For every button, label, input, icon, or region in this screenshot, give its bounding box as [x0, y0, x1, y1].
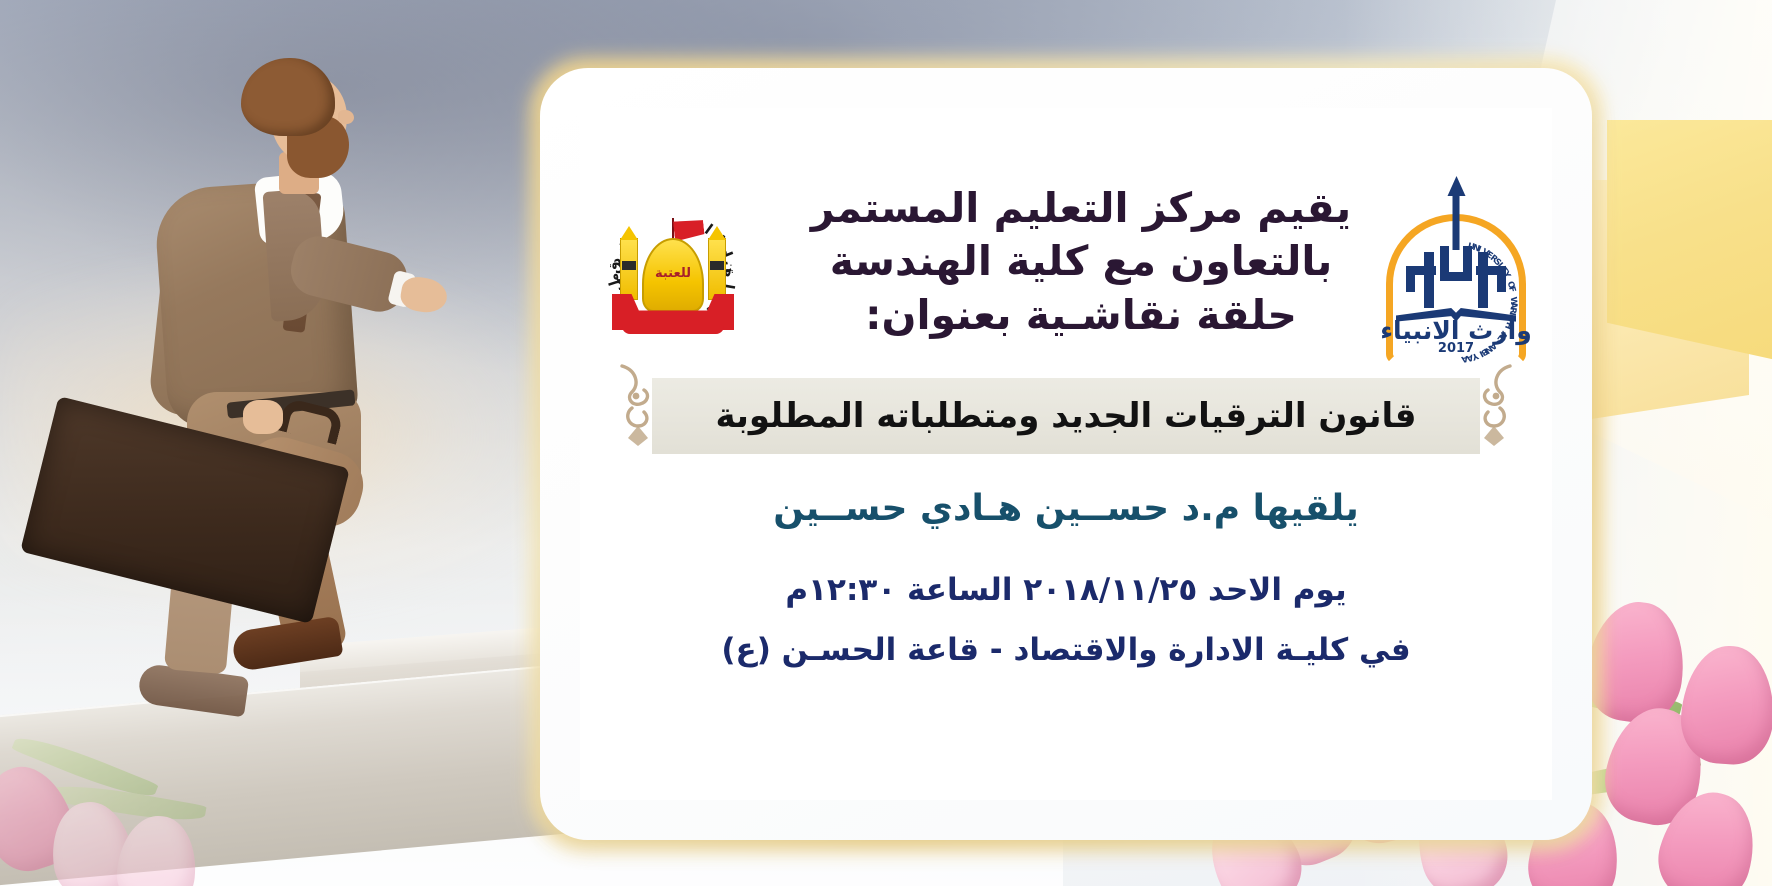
- university-of-warith-al-anbiyaa-logo: وارث الانبياء 2017 UNIVERSITY OF WARITH …: [1372, 190, 1540, 366]
- atabah-dome-label: للعتبة: [644, 266, 702, 281]
- page-title: يقيم مركز التعليم المستمر بالتعاون مع كل…: [790, 182, 1372, 342]
- hair: [241, 58, 335, 136]
- minaret-left-icon: [620, 238, 638, 300]
- tulip-flower: [1678, 643, 1772, 767]
- nose: [338, 110, 354, 124]
- businessman-illustration: [95, 48, 425, 748]
- hand-holding-briefcase: [243, 400, 283, 434]
- heading-line-2: بالتعاون مع كلية الهندسة: [790, 235, 1372, 288]
- speaker-line: يلقيها م.د حســين هـادي حســين: [580, 488, 1552, 529]
- tulip-bouquet-left: [0, 696, 240, 886]
- minaret-right-icon: [708, 238, 726, 300]
- heading-line-3: حلقة نقاشـية بعنوان:: [790, 289, 1372, 342]
- poster-content: الامانة العامةالمقدسة للعتبة يقيم مركز ا…: [580, 108, 1552, 800]
- shoe-front: [231, 616, 344, 672]
- atabah-husayniyya-logo: الامانة العامةالمقدسة للعتبة: [598, 194, 748, 354]
- title-banner: قانون الترقيات الجديد ومتطلباته المطلوبة: [652, 378, 1480, 454]
- event-datetime: يوم الاحد ٢٠١٨/١١/٢٥ الساعة ١٢:٣٠م: [580, 572, 1552, 608]
- title-banner-wrapper: قانون الترقيات الجديد ومتطلباته المطلوبة: [616, 372, 1516, 462]
- tulip-flower: [113, 812, 200, 886]
- poster-canvas: الامانة العامةالمقدسة للعتبة يقيم مركز ا…: [0, 0, 1772, 886]
- atabah-red-band: [622, 320, 724, 334]
- seminar-title: قانون الترقيات الجديد ومتطلباته المطلوبة: [716, 396, 1417, 436]
- header-row: الامانة العامةالمقدسة للعتبة يقيم مركز ا…: [580, 142, 1552, 342]
- heading-line-1: يقيم مركز التعليم المستمر: [790, 182, 1372, 235]
- event-venue: في كليـة الادارة والاقتصاد - قاعة الحسـن…: [580, 632, 1552, 668]
- university-name-english-arc: UNIVERSITY OF WARITH AL-ANBIYAA: [1378, 224, 1534, 380]
